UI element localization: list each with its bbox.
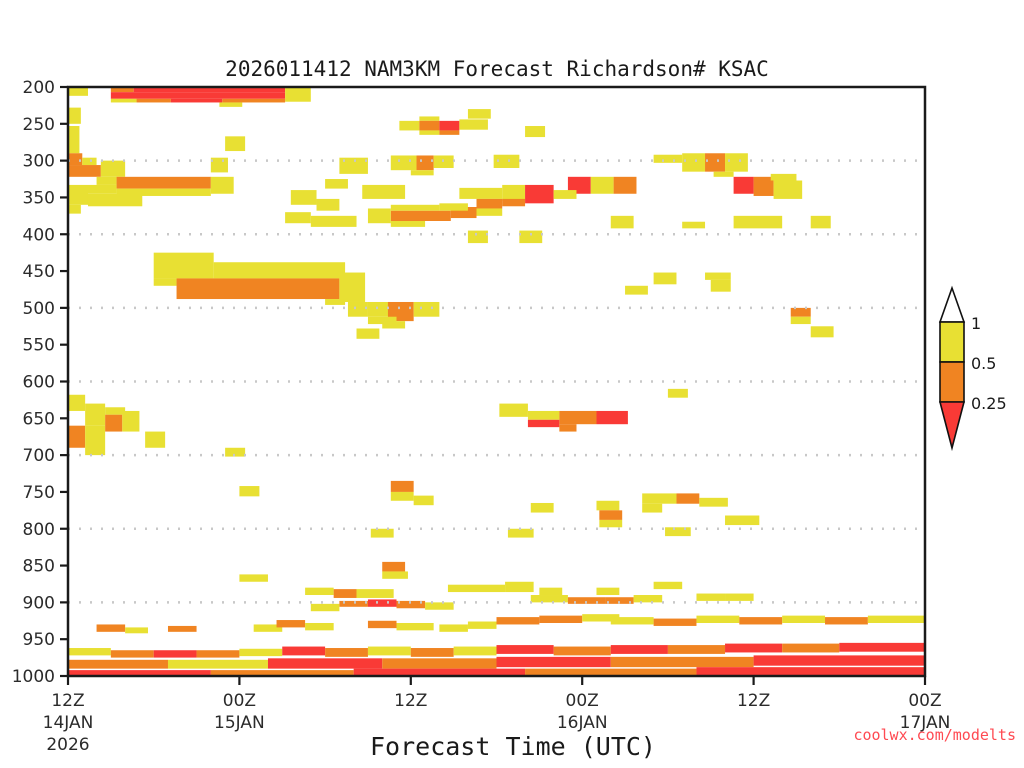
heatmap-cell xyxy=(145,432,165,448)
heatmap-cell xyxy=(68,165,101,177)
heatmap-cell xyxy=(137,99,171,103)
heatmap-cell xyxy=(371,529,394,538)
heatmap-cell xyxy=(382,571,408,578)
heatmap-cell xyxy=(391,155,417,170)
chart-page: 2026011412 NAM3KM Forecast Richardson# K… xyxy=(0,0,1024,768)
heatmap-cell xyxy=(311,216,357,227)
heatmap-cell xyxy=(611,657,754,667)
heatmap-cell xyxy=(368,621,397,628)
heatmap-cell xyxy=(391,221,425,227)
heatmap-cell xyxy=(225,136,245,151)
heatmap-cell xyxy=(539,588,562,595)
heatmap-cell xyxy=(325,179,348,189)
heatmap-cell xyxy=(611,216,634,229)
heatmap-cell xyxy=(277,620,306,627)
x-tick-label: 00Z xyxy=(566,691,599,711)
heatmap-cell xyxy=(599,510,622,520)
heatmap-cell xyxy=(382,321,405,328)
heatmap-cell xyxy=(811,216,831,229)
heatmap-cell xyxy=(468,231,488,244)
heatmap-cell xyxy=(654,619,697,626)
heatmap-cell xyxy=(399,121,419,131)
heatmap-cell xyxy=(771,174,797,181)
heatmap-cell xyxy=(305,588,334,595)
y-tick-label: 400 xyxy=(23,225,55,245)
richardson-number-timeheight-chart: 2026011412 NAM3KM Forecast Richardson# K… xyxy=(0,0,1024,768)
heatmap-cell xyxy=(725,644,782,653)
heatmap-cell xyxy=(268,658,382,668)
x-tick-label: 00Z xyxy=(908,691,941,711)
heatmap-cell xyxy=(368,599,397,606)
heatmap-cell xyxy=(811,326,834,337)
heatmap-cell xyxy=(68,660,168,669)
heatmap-cell xyxy=(197,650,240,657)
heatmap-cell xyxy=(791,308,811,317)
page-title: 2026011412 NAM3KM Forecast Richardson# K… xyxy=(225,57,769,81)
heatmap-cell xyxy=(357,589,394,598)
heatmap-cell xyxy=(391,211,451,221)
x-tick-label: 2026 xyxy=(46,735,89,755)
heatmap-cell xyxy=(459,119,488,129)
heatmap-cell xyxy=(774,181,803,199)
y-tick-label: 800 xyxy=(23,520,55,540)
y-tick-label: 600 xyxy=(23,373,55,393)
heatmap-cell xyxy=(417,155,434,170)
heatmap-cell xyxy=(611,617,654,624)
x-tick-label: 12Z xyxy=(394,691,427,711)
heatmap-cell xyxy=(714,172,734,177)
x-tick-label: 12Z xyxy=(737,691,770,711)
heatmap-cell xyxy=(211,177,234,194)
heatmap-cell xyxy=(705,153,725,171)
heatmap-cell xyxy=(125,627,148,633)
heatmap-cell xyxy=(334,589,357,598)
y-tick-label: 1000 xyxy=(12,667,55,687)
heatmap-cell xyxy=(839,643,925,652)
heatmap-cell xyxy=(111,650,154,657)
heatmap-cell xyxy=(111,92,285,99)
heatmap-cell xyxy=(391,481,414,492)
heatmap-cell xyxy=(105,407,125,414)
heatmap-cell xyxy=(591,177,614,194)
heatmap-cell xyxy=(239,649,282,656)
heatmap-cell xyxy=(85,426,105,455)
heatmap-cell xyxy=(419,116,439,120)
heatmap-cell xyxy=(508,529,534,538)
heatmap-cell xyxy=(439,130,459,134)
y-tick-label: 500 xyxy=(23,299,55,319)
heatmap-cell xyxy=(791,317,811,324)
heatmap-cell xyxy=(368,647,411,656)
heatmap-cell xyxy=(439,203,468,210)
heatmap-cell xyxy=(368,208,391,223)
heatmap-cell xyxy=(668,389,688,398)
heatmap-cell xyxy=(699,498,728,507)
heatmap-cell xyxy=(211,158,228,173)
colorbar-band xyxy=(940,362,964,402)
heatmap-cell xyxy=(214,262,345,278)
heatmap-cell xyxy=(734,177,754,194)
heatmap-cell xyxy=(459,188,502,199)
colorbar-tick-label: 0.5 xyxy=(971,354,996,373)
heatmap-cell xyxy=(357,328,380,338)
heatmap-cell xyxy=(154,278,177,285)
y-tick-label: 850 xyxy=(23,557,55,577)
y-tick-label: 950 xyxy=(23,630,55,650)
heatmap-cell xyxy=(725,153,748,171)
heatmap-cell xyxy=(477,585,506,592)
heatmap-cell xyxy=(382,562,405,572)
y-tick-label: 450 xyxy=(23,262,55,282)
heatmap-cell xyxy=(239,486,259,496)
heatmap-cell xyxy=(454,647,497,656)
heatmap-cell xyxy=(725,515,759,525)
heatmap-cell xyxy=(171,99,222,103)
heatmap-cell xyxy=(519,231,542,244)
heatmap-cell xyxy=(325,648,368,657)
heatmap-cell xyxy=(68,648,111,655)
heatmap-cell xyxy=(734,216,783,229)
heatmap-cell xyxy=(439,121,459,131)
heatmap-cell xyxy=(68,426,85,448)
heatmap-cell xyxy=(88,185,117,194)
heatmap-cell xyxy=(502,199,525,206)
heatmap-cell xyxy=(439,624,468,631)
heatmap-cell xyxy=(285,212,311,223)
heatmap-cell xyxy=(642,504,662,513)
x-tick-label: 16JAN xyxy=(557,713,608,733)
heatmap-cell xyxy=(468,622,497,629)
heatmap-cell xyxy=(391,205,440,211)
heatmap-cell xyxy=(754,655,925,665)
heatmap-cell xyxy=(634,595,663,602)
y-tick-label: 250 xyxy=(23,115,55,135)
colorbar-band xyxy=(940,322,964,362)
heatmap-cell xyxy=(368,302,391,317)
heatmap-cell xyxy=(419,130,439,134)
heatmap-cell xyxy=(177,278,340,299)
heatmap-cell xyxy=(682,153,705,171)
heatmap-cell xyxy=(497,617,540,624)
heatmap-cell xyxy=(468,109,491,119)
y-tick-label: 200 xyxy=(23,78,55,98)
heatmap-cell xyxy=(311,604,340,611)
y-tick-label: 750 xyxy=(23,483,55,503)
y-tick-label: 900 xyxy=(23,593,55,613)
heatmap-cell xyxy=(391,492,414,501)
heatmap-cell xyxy=(554,190,577,199)
heatmap-cell xyxy=(68,395,85,411)
heatmap-cell xyxy=(154,650,197,657)
heatmap-cell xyxy=(414,496,434,506)
y-tick-label: 700 xyxy=(23,446,55,466)
y-tick-label: 550 xyxy=(23,336,55,356)
heatmap-cell xyxy=(154,253,214,279)
heatmap-cell xyxy=(239,574,268,581)
heatmap-cell xyxy=(725,594,754,601)
heatmap-cell xyxy=(68,185,88,205)
y-tick-label: 650 xyxy=(23,409,55,429)
heatmap-cell xyxy=(325,299,345,305)
heatmap-cell xyxy=(614,177,637,194)
x-tick-label: 12Z xyxy=(51,691,84,711)
heatmap-cell xyxy=(68,87,88,96)
heatmap-cell xyxy=(68,126,79,153)
heatmap-cell xyxy=(531,595,568,602)
heatmap-cell xyxy=(559,424,576,431)
plot-area[interactable] xyxy=(68,87,925,677)
heatmap-cell xyxy=(448,585,477,592)
heatmap-cell xyxy=(82,158,96,165)
heatmap-cell xyxy=(559,411,596,424)
heatmap-cell xyxy=(528,420,559,427)
heatmap-cell xyxy=(554,647,611,656)
heatmap-cell xyxy=(497,645,554,654)
heatmap-cell xyxy=(539,616,582,623)
heatmap-cell xyxy=(502,185,525,201)
heatmap-cell xyxy=(419,121,439,131)
heatmap-cell xyxy=(825,617,868,624)
x-tick-label: 15JAN xyxy=(214,713,265,733)
heatmap-cell xyxy=(705,273,731,280)
heatmap-cell xyxy=(168,626,197,632)
heatmap-cell xyxy=(101,161,125,177)
colorbar-tick-label: 0.25 xyxy=(971,394,1007,413)
heatmap-cell xyxy=(68,153,82,165)
heatmap-cell xyxy=(425,602,454,609)
x-tick-label: 00Z xyxy=(223,691,256,711)
x-tick-label: 14JAN xyxy=(43,713,94,733)
heatmap-cell xyxy=(654,155,683,163)
heatmap-cell xyxy=(348,302,368,317)
heatmap-cell xyxy=(642,493,676,503)
heatmap-cell xyxy=(654,582,683,589)
heatmap-cell xyxy=(625,286,648,295)
heatmap-cell xyxy=(117,177,211,189)
heatmap-cell xyxy=(665,527,691,536)
heatmap-cell xyxy=(411,170,434,175)
heatmap-cell xyxy=(596,588,619,595)
colorbar-tick-label: 1 xyxy=(971,314,981,333)
heatmap-cell xyxy=(782,616,825,623)
heatmap-cell xyxy=(411,648,454,657)
heatmap-cell xyxy=(505,582,534,592)
heatmap-cell xyxy=(525,126,545,137)
heatmap-cell xyxy=(696,616,739,623)
heatmap-cell xyxy=(222,99,285,103)
heatmap-cell xyxy=(754,177,774,196)
heatmap-cell xyxy=(362,185,405,199)
y-tick-label: 350 xyxy=(23,188,55,208)
heatmap-cell xyxy=(105,415,122,432)
heatmap-cell xyxy=(168,660,268,669)
heatmap-cell xyxy=(414,302,440,317)
heatmap-cell xyxy=(611,645,668,654)
heatmap-cell xyxy=(97,624,126,631)
heatmap-cell xyxy=(528,411,559,420)
heatmap-cell xyxy=(531,503,554,513)
heatmap-cell xyxy=(122,411,139,432)
heatmap-cell xyxy=(219,102,242,106)
credit-link[interactable]: coolwx.com/modelts xyxy=(853,726,1016,744)
heatmap-cell xyxy=(88,194,142,207)
heatmap-cell xyxy=(68,108,81,124)
heatmap-cell xyxy=(111,99,137,103)
heatmap-cell xyxy=(739,617,782,624)
x-axis-label: Forecast Time (UTC) xyxy=(370,732,656,761)
heatmap-cell xyxy=(282,647,325,656)
heatmap-cell xyxy=(596,411,627,424)
heatmap-cell xyxy=(676,493,699,503)
heatmap-cell xyxy=(711,280,731,292)
heatmap-cell xyxy=(868,616,925,623)
heatmap-cell xyxy=(285,87,311,102)
heatmap-cell xyxy=(654,273,677,285)
heatmap-cell xyxy=(291,190,317,205)
heatmap-cell xyxy=(599,520,622,527)
heatmap-cell xyxy=(596,501,619,511)
heatmap-cell xyxy=(397,623,434,630)
heatmap-cell xyxy=(382,658,496,668)
heatmap-cell xyxy=(696,594,725,601)
heatmap-cell xyxy=(477,199,503,209)
heatmap-cell xyxy=(525,185,554,203)
heatmap-cell xyxy=(225,448,245,457)
heatmap-cell xyxy=(682,222,705,229)
heatmap-cell xyxy=(68,205,81,214)
heatmap-cell xyxy=(477,208,503,215)
heatmap-cell xyxy=(339,273,365,302)
heatmap-cell xyxy=(782,644,839,653)
heatmap-cell xyxy=(497,657,611,667)
heatmap-cell xyxy=(85,404,105,426)
heatmap-cell xyxy=(97,177,117,185)
y-tick-label: 300 xyxy=(23,152,55,172)
heatmap-cell xyxy=(668,645,725,654)
heatmap-cell xyxy=(499,404,528,417)
heatmap-cell xyxy=(317,199,340,211)
heatmap-cell xyxy=(305,623,334,630)
